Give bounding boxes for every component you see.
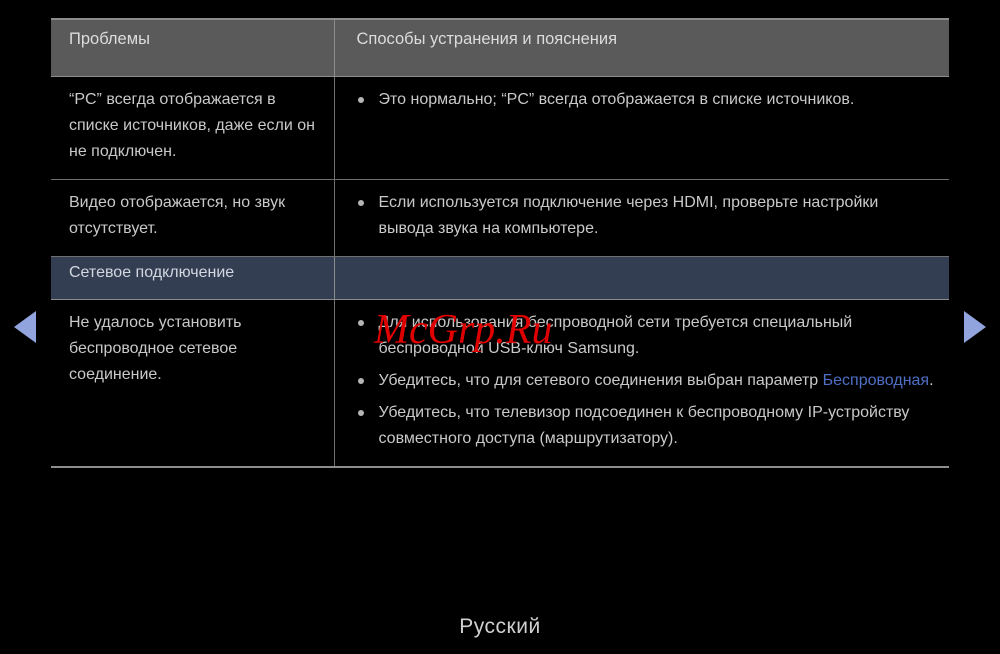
section-header-row: Сетевое подключение <box>51 257 949 300</box>
list-item-text: Для использования беспроводной сети треб… <box>379 314 853 357</box>
section-title: Сетевое подключение <box>51 257 334 300</box>
bullet-icon <box>358 378 364 384</box>
list-item-text: Это нормально; “PC” всегда отображается … <box>379 91 855 108</box>
problem-cell: Не удалось установить беспроводное сетев… <box>51 300 334 468</box>
list-item: Если используется подключение через HDMI… <box>357 190 936 242</box>
bullet-icon <box>358 200 364 206</box>
list-item: Убедитесь, что телевизор подсоединен к б… <box>357 400 936 452</box>
bullet-icon <box>358 410 364 416</box>
solution-cell: Если используется подключение через HDMI… <box>334 180 949 257</box>
list-item: Это нормально; “PC” всегда отображается … <box>357 87 936 113</box>
previous-page-arrow-icon[interactable] <box>14 311 36 343</box>
bullet-icon <box>358 97 364 103</box>
solution-bullet-list: Если используется подключение через HDMI… <box>357 190 936 242</box>
table-row: Видео отображается, но звук отсутствует.… <box>51 180 949 257</box>
next-page-arrow-icon[interactable] <box>964 311 986 343</box>
list-item-text: Убедитесь, что телевизор подсоединен к б… <box>379 404 910 447</box>
list-item-text: Если используется подключение через HDMI… <box>379 194 879 237</box>
list-item-text-after: . <box>929 372 933 389</box>
troubleshooting-table: Проблемы Способы устранения и пояснения … <box>51 18 949 468</box>
table-header-row: Проблемы Способы устранения и пояснения <box>51 19 949 77</box>
solution-bullet-list: Это нормально; “PC” всегда отображается … <box>357 87 936 113</box>
column-header-problem: Проблемы <box>51 19 334 77</box>
list-item: Убедитесь, что для сетевого соединения в… <box>357 368 936 394</box>
column-header-solution: Способы устранения и пояснения <box>334 19 949 77</box>
solution-bullet-list: Для использования беспроводной сети треб… <box>357 310 936 452</box>
list-item: Для использования беспроводной сети треб… <box>357 310 936 362</box>
table-body: “PC” всегда отображается в списке источн… <box>51 77 949 468</box>
section-title-spacer <box>334 257 949 300</box>
highlighted-setting-name: Беспроводная <box>823 372 929 389</box>
bullet-icon <box>358 320 364 326</box>
problem-cell: Видео отображается, но звук отсутствует. <box>51 180 334 257</box>
table-row: Не удалось установить беспроводное сетев… <box>51 300 949 468</box>
list-item-text-before: Убедитесь, что для сетевого соединения в… <box>379 372 823 389</box>
table-row: “PC” всегда отображается в списке источн… <box>51 77 949 180</box>
solution-cell: Для использования беспроводной сети треб… <box>334 300 949 468</box>
solution-cell: Это нормально; “PC” всегда отображается … <box>334 77 949 180</box>
footer-language-label: Русский <box>0 615 1000 639</box>
problem-cell: “PC” всегда отображается в списке источн… <box>51 77 334 180</box>
